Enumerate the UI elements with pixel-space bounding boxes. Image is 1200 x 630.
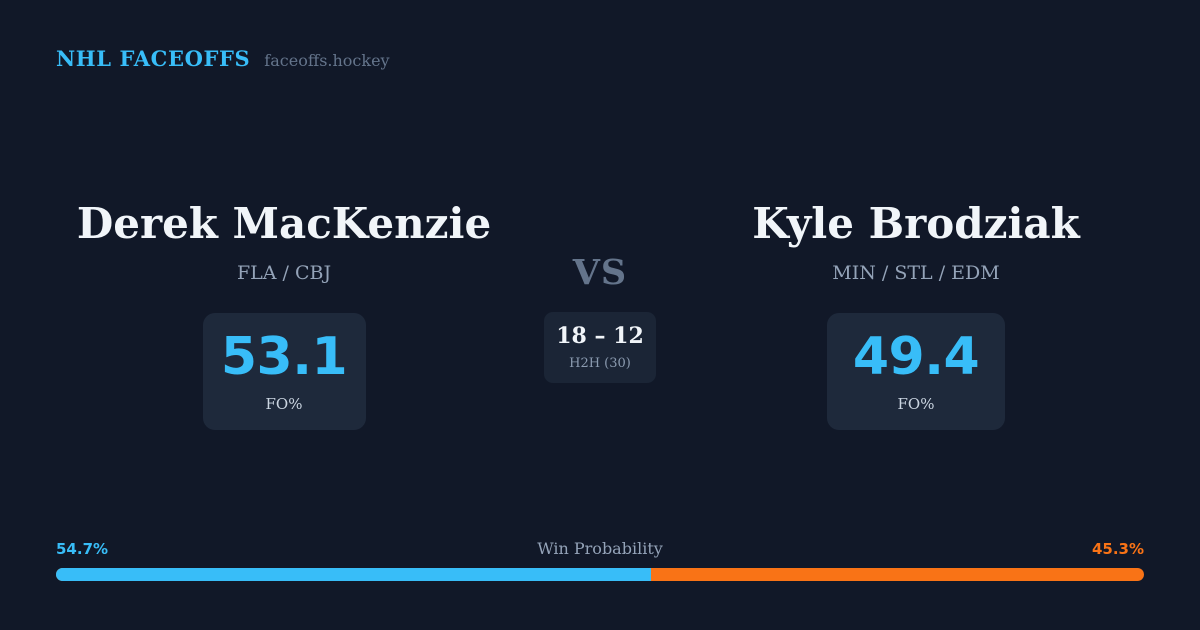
win-probability-left-pct: 54.7%: [56, 542, 108, 557]
brand-title: NHL FACEOFFS: [56, 46, 250, 71]
stat-label-left: FO%: [266, 395, 303, 413]
player-name-right: Kyle Brodziak: [752, 203, 1079, 245]
site-header: NHL FACEOFFS faceoffs.hockey: [56, 46, 390, 71]
stat-label-right: FO%: [898, 395, 935, 413]
matchup-section: Derek MacKenzie FLA / CBJ 53.1 FO% VS 18…: [0, 185, 1200, 435]
stat-card-left: 53.1 FO%: [203, 313, 366, 430]
stat-value-left: 53.1: [221, 331, 347, 383]
site-domain-label: faceoffs.hockey: [264, 51, 389, 70]
head-to-head-record: 18 – 12: [556, 325, 644, 347]
stat-card-right: 49.4 FO%: [827, 313, 1005, 430]
win-probability-section: 54.7% Win Probability 45.3%: [56, 541, 1144, 581]
win-probability-labels: 54.7% Win Probability 45.3%: [56, 541, 1144, 557]
head-to-head-label: H2H (30): [569, 356, 631, 371]
player-name-left: Derek MacKenzie: [77, 203, 491, 245]
player-card-right[interactable]: Kyle Brodziak MIN / STL / EDM 49.4 FO%: [666, 185, 1166, 430]
win-probability-right-pct: 45.3%: [1092, 542, 1144, 557]
player-teams-left: FLA / CBJ: [237, 262, 331, 284]
win-probability-bar: [56, 568, 1144, 581]
head-to-head-box: 18 – 12 H2H (30): [544, 312, 656, 383]
player-teams-right: MIN / STL / EDM: [832, 262, 999, 284]
win-probability-bar-left-fill: [56, 568, 651, 581]
stat-value-right: 49.4: [853, 331, 979, 383]
player-card-left[interactable]: Derek MacKenzie FLA / CBJ 53.1 FO%: [34, 185, 534, 430]
versus-label: VS: [573, 255, 627, 290]
win-probability-title: Win Probability: [537, 541, 663, 557]
